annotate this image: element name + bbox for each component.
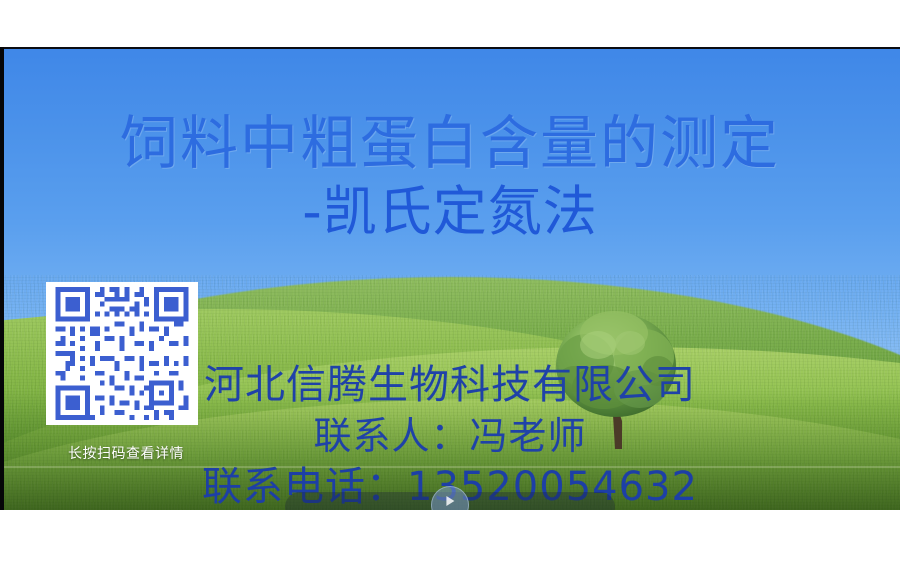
qr-code[interactable] [46,282,198,425]
qr-code-caption: 长按扫码查看详情 [46,443,206,463]
tree-icon [552,309,682,451]
play-glyph-icon [446,496,454,506]
letterbox-left-edge [0,47,4,510]
letterbox-top-edge [0,47,900,49]
screen-root: 饲料中粗蛋白含量的测定 -凯氏定氮法 [0,0,900,561]
video-player-stage[interactable]: 饲料中粗蛋白含量的测定 -凯氏定氮法 [0,47,900,510]
